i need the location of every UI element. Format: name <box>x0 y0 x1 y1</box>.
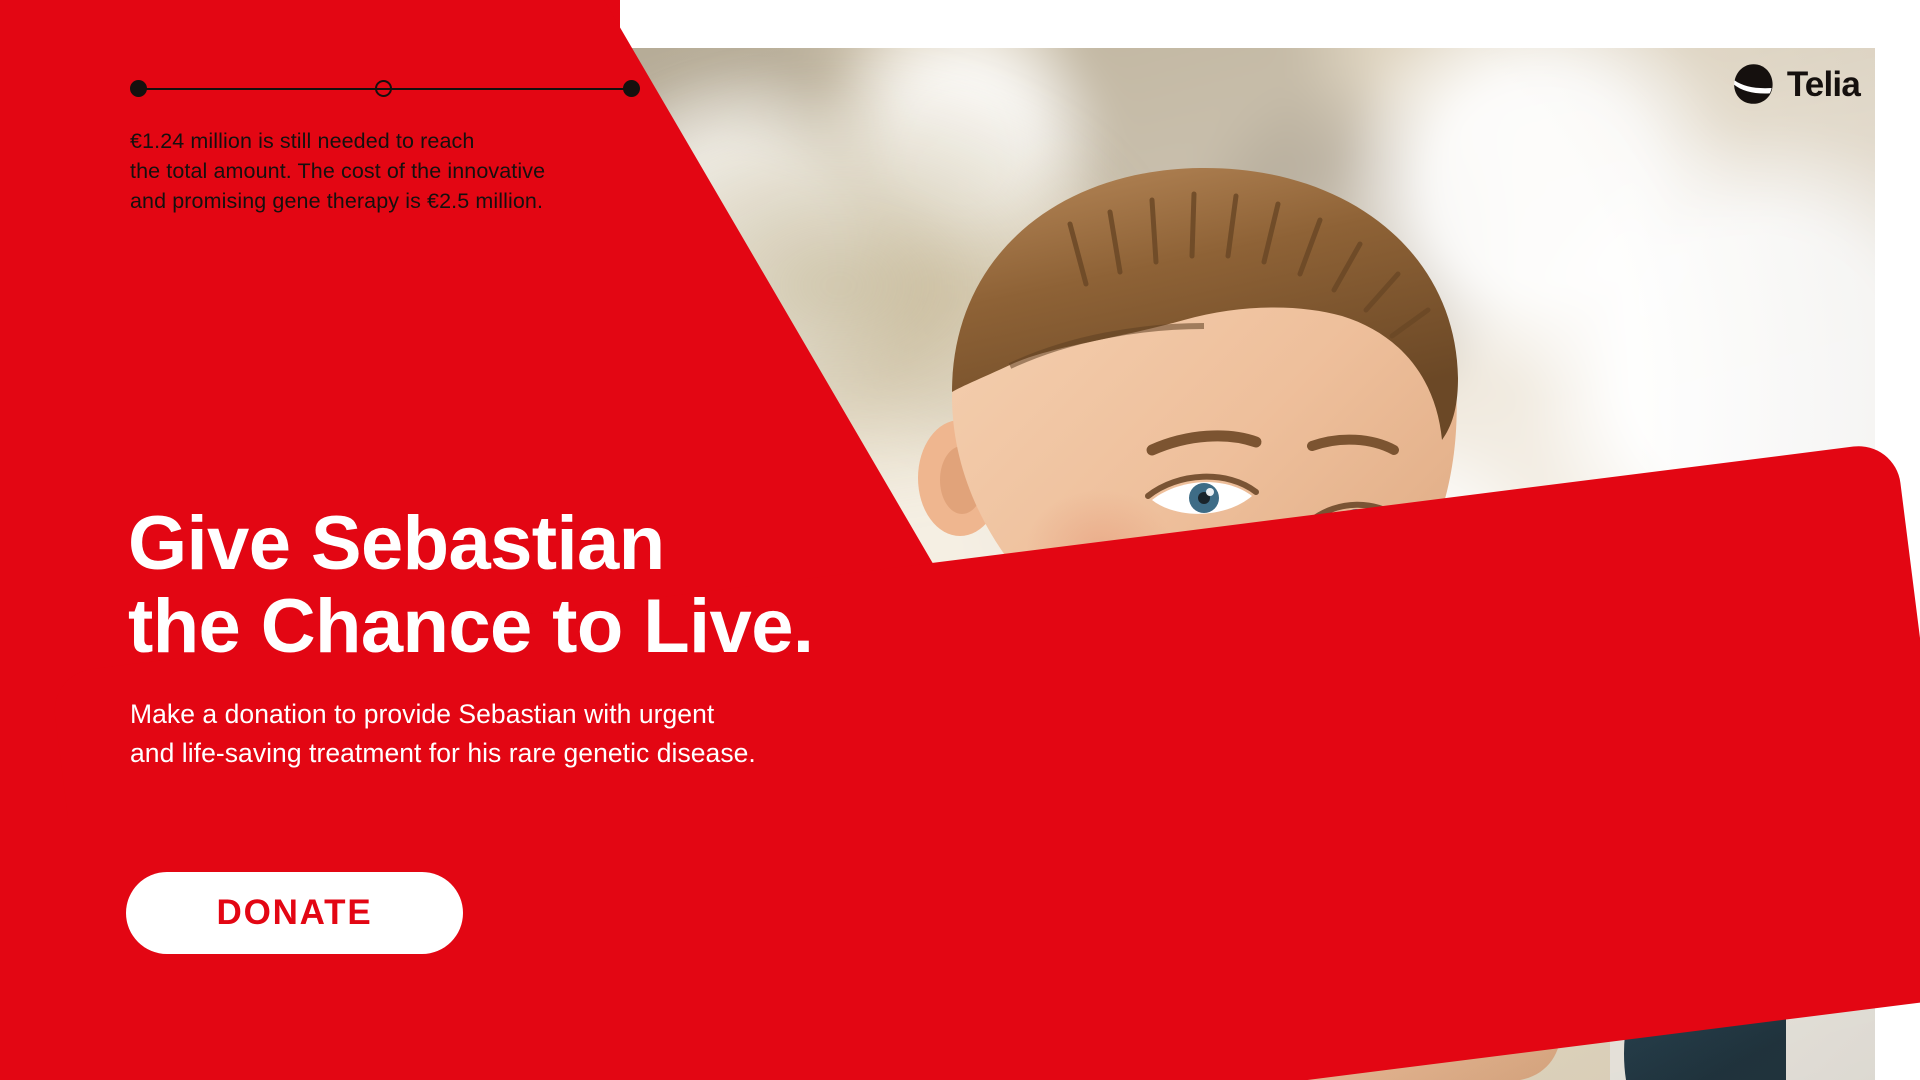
banner-root: €1.24 million is still needed to reach t… <box>0 0 1920 1080</box>
brand-logo[interactable]: Telia <box>1731 62 1860 106</box>
telia-egg-icon <box>1731 62 1775 106</box>
progress-node-current[interactable] <box>375 80 392 97</box>
funding-info-text: €1.24 million is still needed to reach t… <box>130 126 670 216</box>
progress-node-goal[interactable] <box>623 80 640 97</box>
page-title: Give Sebastian the Chance to Live. <box>128 503 1008 669</box>
progress-node-start[interactable] <box>130 80 147 97</box>
subtitle-text: Make a donation to provide Sebastian wit… <box>130 695 1010 773</box>
donate-button[interactable]: DONATE <box>126 872 463 954</box>
brand-wordmark: Telia <box>1787 67 1860 102</box>
fundraising-progress-indicator[interactable] <box>130 80 640 98</box>
top-white-band <box>600 0 1920 48</box>
